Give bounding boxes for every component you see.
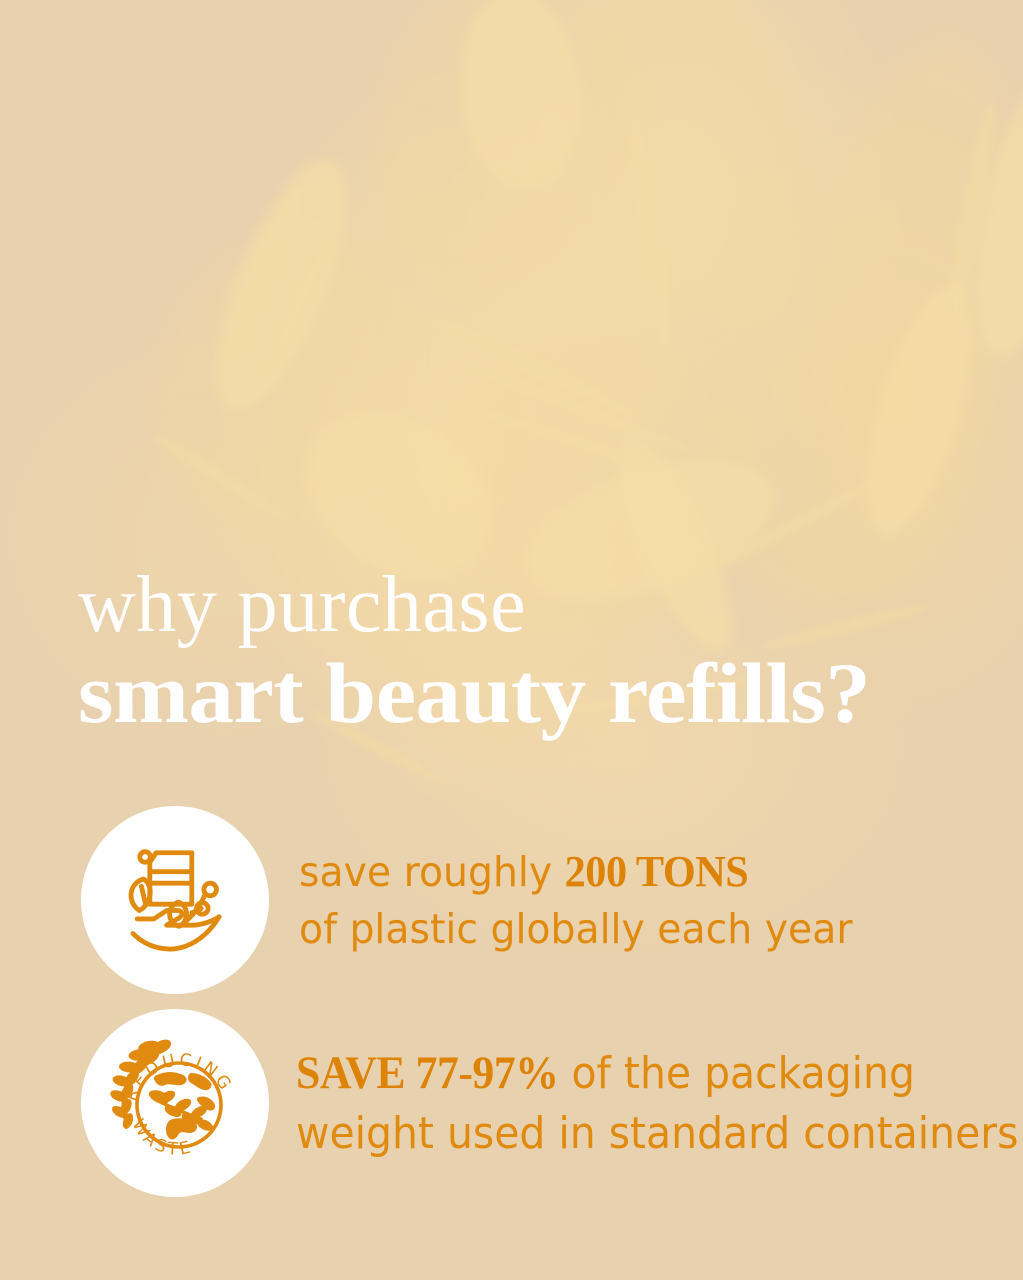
hand-holding-refill-pouch-icon <box>112 837 238 963</box>
benefit-emphasis: 200 TONS <box>565 847 749 896</box>
benefit-text-line-2: of plastic globally each year <box>299 902 853 957</box>
benefit-text: SAVE 77-97% of the packaging weight used… <box>296 1043 1018 1162</box>
benefit-text-line-1: save roughly 200 TONS <box>299 843 853 902</box>
reducing-waste-globe-badge-icon: REDUCING WASTE <box>95 1023 255 1183</box>
benefit-text: save roughly 200 TONS of plastic globall… <box>299 843 853 956</box>
headline-line-1: why purchase <box>78 566 978 644</box>
benefit-text-line-1: SAVE 77-97% of the packaging <box>296 1043 1018 1105</box>
benefit-row: save roughly 200 TONS of plastic globall… <box>81 806 876 994</box>
headline-line-2: smart beauty refills? <box>78 650 1023 736</box>
benefit-emphasis: SAVE 77-97% <box>296 1047 558 1099</box>
benefit-text-suffix: of the packaging <box>558 1048 914 1099</box>
headline: why purchase smart beauty refills? <box>78 566 978 736</box>
promotional-poster: why purchase smart beauty refills? <box>0 0 1023 1280</box>
benefit-badge: REDUCING WASTE <box>81 1009 269 1197</box>
benefit-badge <box>81 806 269 994</box>
benefit-row: REDUCING WASTE SAVE 77-97% of the packag… <box>81 1009 1023 1197</box>
benefit-text-prefix: save roughly <box>299 848 565 896</box>
benefit-text-line-2: weight used in standard containers <box>296 1105 1018 1163</box>
